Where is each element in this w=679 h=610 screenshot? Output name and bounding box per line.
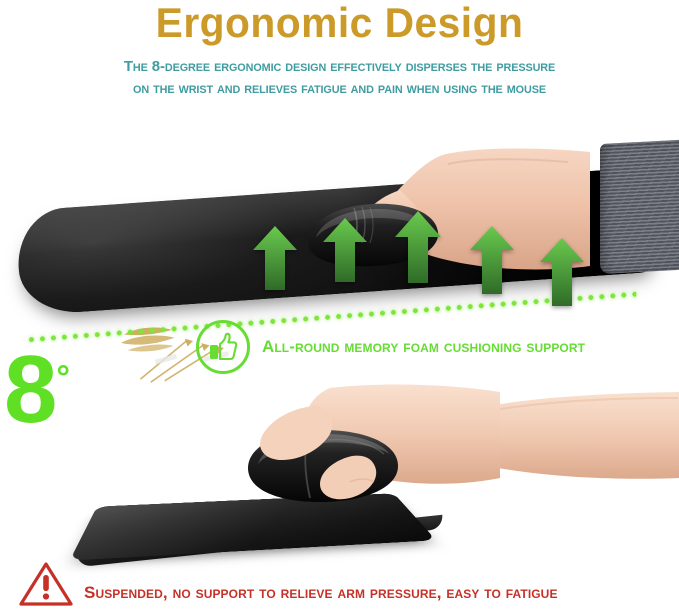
support-arrow-1 (253, 226, 297, 290)
sleeve-cuff (600, 140, 679, 274)
caption-good-text: All-round memory foam cushioning support (262, 337, 585, 357)
subtitle-line-1: The 8-degree ergonomic design effectivel… (5, 56, 674, 78)
support-arrow-5 (540, 238, 584, 306)
thumbs-up-icon (196, 320, 250, 374)
caption-bad: Suspended, no support to relieve arm pre… (18, 560, 558, 610)
scene-ergonomic-wrist-rest: 8° (0, 126, 679, 326)
hand-on-mouse-unsupported (200, 382, 500, 532)
infographic-page: Ergonomic Design The 8-degree ergonomic … (0, 0, 679, 610)
support-arrow-3 (395, 211, 441, 283)
warning-triangle-icon (18, 560, 74, 610)
caption-good: All-round memory foam cushioning support (196, 320, 585, 374)
caption-bad-text: Suspended, no support to relieve arm pre… (84, 571, 558, 603)
support-arrow-2 (323, 218, 367, 282)
support-arrow-4 (470, 226, 514, 294)
scene-flat-mouse-pad (0, 382, 679, 562)
subtitle-line-2: on the wrist and relieves fatigue and pa… (5, 78, 674, 100)
page-title: Ergonomic Design (10, 0, 669, 47)
page-subtitle: The 8-degree ergonomic design effectivel… (5, 56, 674, 100)
